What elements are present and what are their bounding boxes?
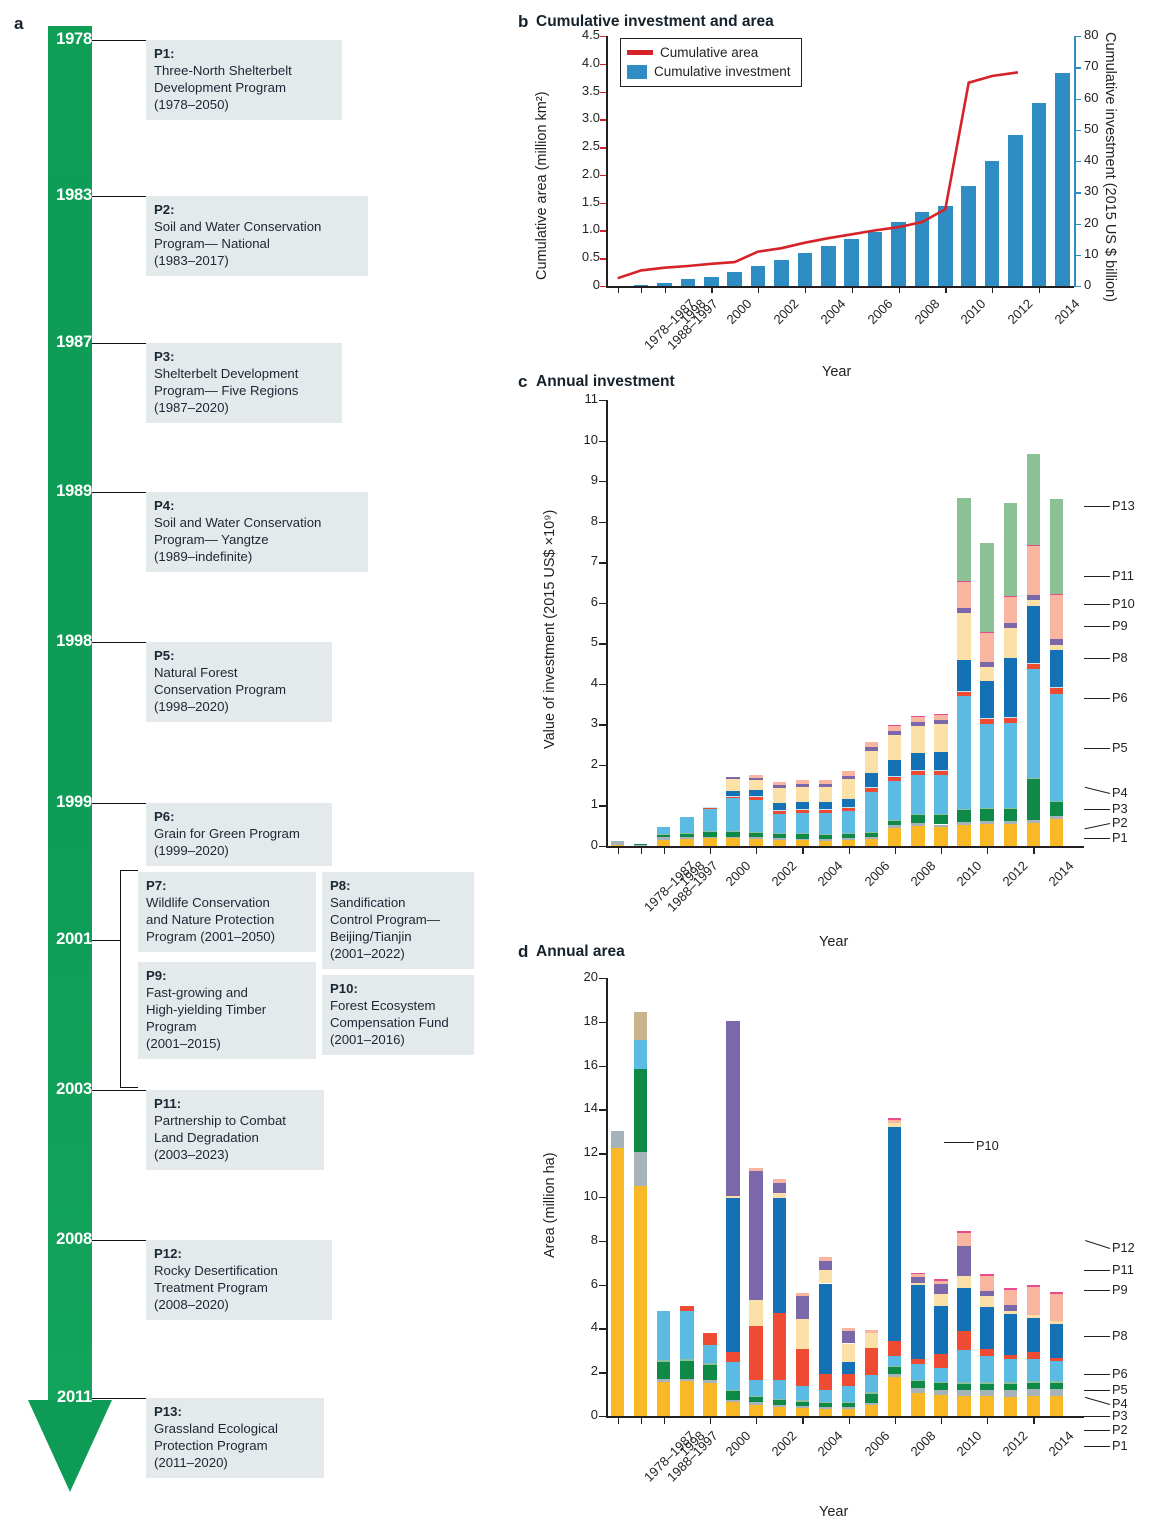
segment-P1: [934, 1395, 947, 1416]
segment-P11: [911, 1274, 924, 1277]
stacked-bar: [773, 978, 786, 1416]
segment-P12: [1050, 1292, 1063, 1294]
program-box-P5[interactable]: P5:Natural ForestConservation Program(19…: [146, 642, 332, 722]
segment-P6: [911, 770, 924, 775]
y-tick-label: 20: [560, 969, 598, 984]
x-tick-label: 2010: [958, 296, 989, 327]
segment-P10: [796, 1296, 809, 1319]
y-tick-label: 6: [560, 594, 598, 609]
segment-P1: [1004, 824, 1017, 846]
segment-P7: [819, 809, 832, 810]
x-tick: [992, 286, 993, 293]
y-axis-title-left: Cumulative area (million km²): [534, 91, 550, 280]
x-tick: [987, 1416, 988, 1424]
segment-P9: [842, 779, 855, 799]
y-tick: [599, 684, 606, 685]
stacked-bar: [1004, 400, 1017, 846]
series-leader-line: [1084, 823, 1110, 829]
segment-P8: [796, 802, 809, 809]
segment-P4: [726, 1390, 739, 1392]
bar-cumulative-investment: [891, 222, 906, 286]
y-tick: [599, 978, 606, 979]
y-tick-label: 9: [560, 472, 598, 487]
segment-P3: [957, 810, 970, 822]
bar-cumulative-investment: [727, 272, 742, 286]
segment-P6: [957, 1331, 970, 1351]
segment-P9: [796, 787, 809, 802]
stacked-bar: [703, 400, 716, 846]
y-tick-label-left: 3.0: [554, 110, 600, 125]
x-tick: [899, 286, 900, 293]
segment-P8: [911, 1285, 924, 1359]
segment-P12: [911, 716, 924, 717]
bar-cumulative-investment: [1008, 135, 1023, 286]
stacked-bar: [796, 400, 809, 846]
series-leader-line: [1084, 658, 1110, 659]
series-leader-line: [1084, 576, 1110, 577]
y-tick-label: 0: [560, 1407, 598, 1422]
segment-P4: [888, 820, 901, 821]
y-tick-label-left: 1.0: [554, 221, 600, 236]
stacked-bar: [749, 978, 762, 1416]
program-box-P12[interactable]: P12:Rocky DesertificationTreatment Progr…: [146, 1240, 332, 1320]
segment-P11: [934, 1281, 947, 1284]
y-tick-label: 14: [560, 1100, 598, 1115]
segment-P12: [1004, 596, 1017, 597]
bar-cumulative-investment: [751, 266, 766, 286]
y-tick: [599, 643, 606, 644]
segment-P10: [1004, 1305, 1017, 1310]
segment-P12: [911, 1273, 924, 1275]
bar-cumulative-investment: [985, 161, 1000, 286]
segment-P2: [796, 1406, 809, 1408]
timeline-year-1978: 1978: [36, 30, 92, 49]
segment-P3: [1027, 1383, 1040, 1390]
y-tick-label: 5: [560, 634, 598, 649]
segment-P12: [980, 632, 993, 633]
segment-P4: [911, 1380, 924, 1382]
series-label-P5: P5: [1112, 1382, 1128, 1397]
stacked-bar: [819, 400, 832, 846]
program-line: Grassland Ecological: [154, 1420, 316, 1437]
program-line: Program— Yangtze: [154, 531, 360, 548]
segment-P2: [888, 825, 901, 827]
y-tick: [599, 1109, 606, 1110]
segment-P1: [749, 839, 762, 846]
segment-P9: [1004, 628, 1017, 658]
segment-P1: [726, 838, 739, 846]
program-code: P12:: [154, 1246, 182, 1261]
segment-P1: [957, 825, 970, 846]
x-tick: [618, 1416, 619, 1424]
program-line: Program— Five Regions: [154, 382, 334, 399]
segment-P9: [1027, 1315, 1040, 1318]
segment-P1: [819, 841, 832, 846]
y-tick-label: 12: [560, 1144, 598, 1159]
x-tick-label: 2002: [769, 1428, 800, 1459]
segment-P4: [911, 814, 924, 815]
y-tick-label: 2: [560, 756, 598, 771]
x-tick-label: 2006: [864, 296, 895, 327]
series-label-P2: P2: [1112, 1422, 1128, 1437]
y-tick-left: [600, 203, 606, 204]
program-line: (1999–2020): [154, 842, 324, 859]
stacked-bar: [726, 978, 739, 1416]
segment-P1: [703, 838, 716, 846]
segment-P5: [703, 809, 716, 832]
x-tick: [1033, 1416, 1034, 1424]
stacked-bar: [1004, 978, 1017, 1416]
segment-P12: [1050, 594, 1063, 595]
segment-P8: [980, 1307, 993, 1349]
series-label-P6: P6: [1112, 690, 1128, 705]
x-tick: [618, 846, 619, 854]
segment-P2: [980, 1390, 993, 1396]
segment-P9: [888, 1123, 901, 1127]
stacked-bar: [1050, 400, 1063, 846]
stacked-bar: [934, 400, 947, 846]
x-tick: [852, 286, 853, 293]
segment-P1: [773, 840, 786, 846]
segment-P11: [980, 633, 993, 662]
segment-P9: [980, 667, 993, 681]
segment-P4: [934, 1382, 947, 1384]
bar-cumulative-investment: [1032, 103, 1047, 286]
y-tick-label-left: 0: [554, 277, 600, 292]
segment-P12: [980, 1274, 993, 1276]
program-box-P1[interactable]: P1:Three-North ShelterbeltDevelopment Pr…: [146, 40, 342, 120]
x-tick: [805, 286, 806, 293]
segment-P8: [1050, 1324, 1063, 1358]
series-leader-line: [1085, 1397, 1110, 1405]
x-tick: [802, 846, 803, 854]
y-tick: [599, 1285, 606, 1286]
segment-P3: [1050, 802, 1063, 816]
segment-P3: [911, 814, 924, 823]
segment-P1: [703, 1383, 716, 1416]
segment-P8: [888, 760, 901, 776]
segment-P1: [749, 1405, 762, 1416]
segment-P5: [1050, 1361, 1063, 1381]
x-tick-label: 2004: [817, 296, 848, 327]
bar-cumulative-investment: [915, 212, 930, 286]
segment-P10: [888, 731, 901, 735]
segment-P10: [980, 1291, 993, 1296]
x-tick-label: 2004: [815, 858, 846, 889]
segment-P6: [1050, 1358, 1063, 1362]
x-tick: [849, 846, 850, 854]
x-tick: [618, 286, 619, 293]
segment-P2: [611, 1131, 624, 1148]
segment-P3: [934, 1383, 947, 1390]
segment-P1: [842, 1409, 855, 1416]
segment-P4: [980, 808, 993, 809]
segment-P6: [773, 1313, 786, 1380]
x-tick: [641, 846, 642, 854]
y-tick: [599, 1416, 606, 1417]
program-box-P6[interactable]: P6:Grain for Green Program(1999–2020): [146, 803, 332, 866]
segment-P1: [819, 1409, 832, 1416]
y-tick-label-left: 2.5: [554, 138, 600, 153]
segment-P11: [796, 780, 809, 784]
y-tick: [599, 1372, 606, 1373]
segment-P9: [957, 613, 970, 660]
x-axis: [606, 1416, 1084, 1418]
segment-P4: [819, 1402, 832, 1403]
segment-P2: [865, 837, 878, 839]
program-line: Land Degradation: [154, 1129, 316, 1146]
segment-P4: [957, 809, 970, 810]
segment-P13: [1050, 499, 1063, 594]
y-axis: [606, 978, 608, 1417]
program-line: Grain for Green Program: [154, 825, 324, 842]
segment-P7: [865, 787, 878, 788]
segment-P2: [680, 1379, 693, 1382]
segment-P2: [980, 821, 993, 824]
series-leader-line: [1084, 748, 1110, 749]
series-label-P11: P11: [1112, 568, 1134, 583]
x-tick: [664, 1416, 665, 1424]
program-box-P3[interactable]: P3:Shelterbelt DevelopmentProgram— Five …: [146, 343, 342, 423]
segment-P4: [980, 1382, 993, 1384]
segment-P9: [819, 787, 832, 802]
segment-P11: [911, 717, 924, 722]
stacked-bar: [865, 400, 878, 846]
segment-P4: [796, 833, 809, 834]
series-leader-line: [1085, 1240, 1110, 1249]
segment-P5: [726, 1362, 739, 1389]
segment-P4: [865, 832, 878, 833]
program-box-P10[interactable]: P10:Forest EcosystemCompensation Fund(20…: [322, 975, 474, 1055]
y-tick: [599, 1153, 606, 1154]
stacked-bar: [819, 978, 832, 1416]
segment-P2: [657, 837, 670, 839]
program-line: (2001–2015): [146, 1035, 308, 1052]
segment-P2: [703, 837, 716, 838]
segment-P3: [634, 844, 647, 845]
segment-P2: [888, 1374, 901, 1377]
stacked-bar: [657, 978, 670, 1416]
series-label-P4: P4: [1112, 785, 1128, 800]
segment-P1: [888, 1377, 901, 1416]
x-tick: [641, 1416, 642, 1424]
segment-P5: [819, 813, 832, 834]
panel-c-annual-investment: c Annual investment 012345678910111978–1…: [510, 368, 1154, 936]
segment-P9: [865, 1333, 878, 1348]
segment-P10: [773, 1183, 786, 1194]
y-tick: [599, 1197, 606, 1198]
bar-cumulative-investment: [868, 232, 883, 286]
y-tick-label: 4: [560, 1319, 598, 1334]
program-code: P8:: [330, 878, 351, 893]
segment-P5: [796, 1386, 809, 1400]
segment-P5: [980, 1356, 993, 1382]
segment-P9: [842, 1344, 855, 1363]
segment-P10: [773, 785, 786, 787]
bar-cumulative-investment: [844, 239, 859, 286]
segment-P10: [749, 1171, 762, 1300]
y-tick-right: [1074, 161, 1081, 162]
segment-P2: [934, 825, 947, 827]
stacked-bar: [680, 400, 693, 846]
segment-P3: [1004, 809, 1017, 821]
segment-P12: [1004, 1288, 1017, 1290]
segment-P1: [726, 1402, 739, 1416]
segment-P13: [1004, 503, 1017, 596]
segment-P9: [1004, 1311, 1017, 1314]
segment-P10: [842, 776, 855, 779]
stacked-bar: [957, 400, 970, 846]
segment-P6: [1027, 664, 1040, 670]
series-label-P8: P8: [1112, 1328, 1128, 1343]
segment-P4: [680, 833, 693, 834]
y-tick: [599, 1241, 606, 1242]
segment-P12: [888, 725, 901, 726]
bar-cumulative-investment: [821, 246, 836, 286]
segment-P7: [1004, 717, 1017, 718]
series-leader-line: [1084, 1390, 1110, 1391]
x-tick-label: 2008: [907, 1428, 938, 1459]
segment-P3: [703, 1365, 716, 1380]
segment-P8: [726, 791, 739, 796]
program-code: P6:: [154, 809, 175, 824]
stacked-bar: [980, 400, 993, 846]
segment-P3: [980, 1384, 993, 1391]
segment-P10: [796, 784, 809, 787]
segment-P5: [749, 800, 762, 832]
timeline-year-1999: 1999: [36, 793, 92, 812]
segment-P4: [773, 833, 786, 834]
timeline-leader-line: [92, 940, 120, 941]
x-tick-label: 2010: [953, 858, 984, 889]
x-tick-label: 2006: [861, 1428, 892, 1459]
program-line: Three-North Shelterbelt: [154, 62, 334, 79]
y-tick-label: 16: [560, 1057, 598, 1072]
segment-P11: [1050, 595, 1063, 640]
segment-P8: [865, 773, 878, 787]
x-tick: [664, 846, 665, 854]
program-line: Treatment Program: [154, 1279, 324, 1296]
segment-P1: [773, 1407, 786, 1416]
x-tick: [802, 1416, 803, 1424]
segment-P6: [888, 1341, 901, 1356]
stacked-bar: [680, 978, 693, 1416]
stacked-bar: [888, 978, 901, 1416]
segment-P9: [888, 735, 901, 760]
segment-P1: [657, 1382, 670, 1416]
stacked-bar: [703, 978, 716, 1416]
program-box-P13[interactable]: P13:Grassland EcologicalProtection Progr…: [146, 1398, 324, 1478]
y-tick-left: [600, 175, 606, 176]
timeline-bar: [48, 26, 92, 1426]
segment-P2: [703, 1380, 716, 1383]
segment-P10: [934, 720, 947, 724]
series-label-P13: P13: [1112, 498, 1135, 513]
timeline-year-1998: 1998: [36, 632, 92, 651]
segment-P1: [1004, 1397, 1017, 1416]
y-tick-label: 3: [560, 715, 598, 730]
y-tick-left: [600, 258, 606, 259]
segment-P6: [1004, 1355, 1017, 1359]
program-box-P2[interactable]: P2:Soil and Water ConservationProgram— N…: [146, 196, 368, 276]
segment-P6: [1027, 1352, 1040, 1359]
segment-P4: [773, 1399, 786, 1400]
program-box-P4[interactable]: P4:Soil and Water ConservationProgram— Y…: [146, 492, 368, 572]
segment-P10: [726, 777, 739, 779]
segment-P3: [865, 832, 878, 836]
segment-P2: [726, 837, 739, 838]
y-tick: [599, 724, 606, 725]
stacked-bar: [1027, 978, 1040, 1416]
y-tick: [599, 400, 606, 401]
program-line: Forest Ecosystem: [330, 997, 466, 1014]
series-leader-line: [1084, 1270, 1110, 1271]
y-tick-right: [1074, 67, 1081, 68]
stacked-bar: [773, 400, 786, 846]
segment-P1: [934, 827, 947, 846]
y-tick: [599, 1328, 606, 1329]
segment-P3: [634, 1069, 647, 1152]
x-tick: [756, 1416, 757, 1424]
timeline-leader-line: [92, 492, 146, 493]
x-tick: [941, 846, 942, 854]
segment-P5: [657, 1311, 670, 1360]
segment-P12: [934, 714, 947, 715]
segment-P3: [842, 833, 855, 837]
segment-P11: [957, 1233, 970, 1246]
program-box-P11[interactable]: P11:Partnership to CombatLand Degradatio…: [146, 1090, 324, 1170]
stacked-bar: [888, 400, 901, 846]
panel-b-letter: b: [518, 12, 528, 32]
stacked-bar: [657, 400, 670, 846]
x-axis: [606, 286, 1074, 288]
segment-P11: [796, 1293, 809, 1296]
segment-P2: [749, 1402, 762, 1405]
bar-cumulative-investment: [938, 206, 953, 286]
y-tick: [599, 562, 606, 563]
segment-P2: [819, 839, 832, 841]
timeline-leader-line: [92, 1090, 146, 1091]
segment-P3: [773, 833, 786, 838]
segment-P5: [842, 811, 855, 833]
program-box-P9[interactable]: P9:Fast-growing andHigh-yielding TimberP…: [138, 962, 316, 1059]
segment-P2: [634, 1152, 647, 1186]
stacked-bar: [865, 978, 878, 1416]
segment-P5: [773, 1380, 786, 1399]
stacked-bar: [911, 978, 924, 1416]
segment-P4: [842, 1402, 855, 1403]
y-tick-label-left: 0.5: [554, 249, 600, 264]
series-label-P3: P3: [1112, 1408, 1128, 1423]
segment-P1: [1050, 1396, 1063, 1416]
program-line: Soil and Water Conservation: [154, 218, 360, 235]
program-line: Program (2001–2050): [146, 928, 308, 945]
program-box-P8[interactable]: P8:SandificationControl Program—Beijing/…: [322, 872, 474, 969]
segment-P2: [819, 1407, 832, 1409]
segment-P6: [1004, 718, 1017, 723]
y-tick-label: 4: [560, 675, 598, 690]
segment-P3: [657, 1362, 670, 1380]
program-box-P7[interactable]: P7:Wildlife Conservationand Nature Prote…: [138, 872, 316, 952]
segment-P6: [703, 1333, 716, 1344]
segment-P11: [888, 1120, 901, 1123]
segment-P5: [796, 813, 809, 833]
program-line: Shelterbelt Development: [154, 365, 334, 382]
segment-P9: [749, 1300, 762, 1326]
segment-P8: [934, 752, 947, 770]
segment-P1: [980, 824, 993, 846]
x-tick: [1039, 286, 1040, 293]
